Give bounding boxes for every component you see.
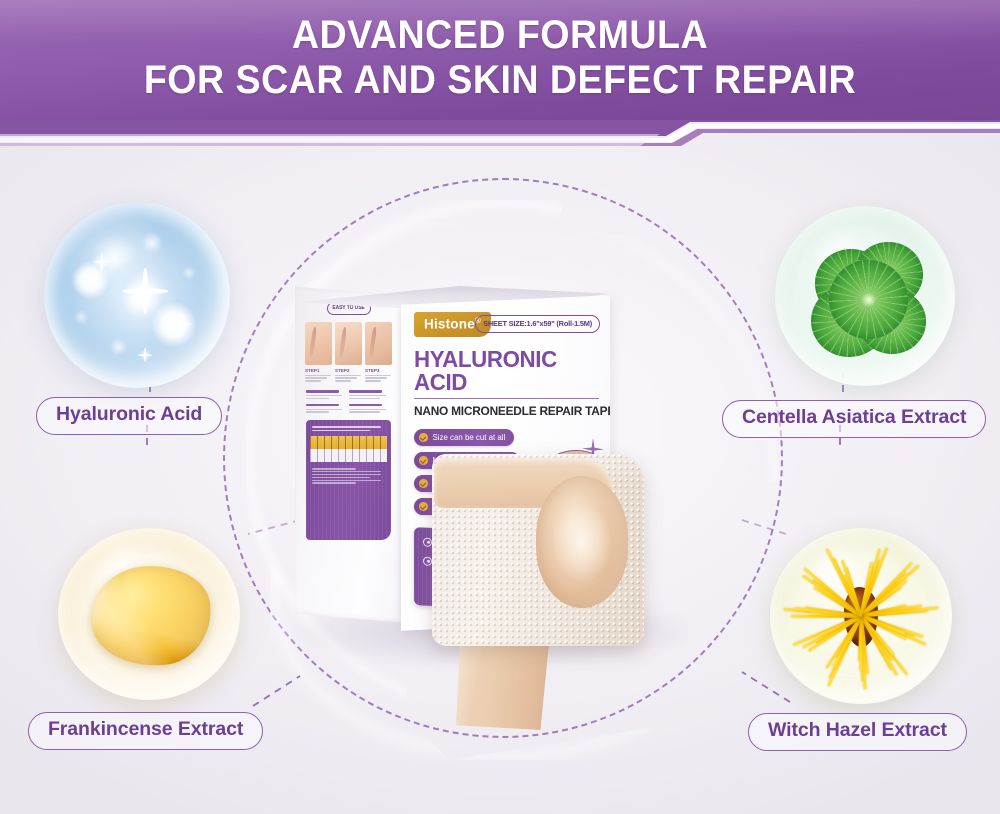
product-group: EASY TO USE STEP1 STEP2	[280, 262, 710, 692]
witch-hazel-flower	[799, 551, 923, 681]
brand-name: Histone	[424, 317, 475, 332]
tape-roll-body	[432, 454, 644, 646]
connector-witch-hazel	[742, 672, 790, 702]
step-photo	[305, 322, 332, 365]
product-title: HYALURONIC ACID	[414, 348, 592, 394]
label-frankincense[interactable]: Frankincense Extract	[28, 712, 263, 750]
spec-block	[301, 383, 396, 414]
title-divider	[414, 398, 599, 399]
flower-petal	[859, 616, 863, 672]
step-photo	[335, 322, 362, 365]
feature-label: Size can be cut at all	[433, 433, 506, 442]
header-title-line2: FOR SCAR AND SKIN DEFECT REPAIR	[30, 58, 970, 103]
product-subtitle: NANO MICRONEEDLE REPAIR TAPE	[414, 404, 591, 418]
centella-leaf-main	[829, 260, 908, 339]
label-hyaluronic-acid[interactable]: Hyaluronic Acid	[36, 397, 222, 435]
step-text	[305, 375, 332, 382]
step-text	[335, 375, 362, 382]
check-icon	[419, 456, 428, 465]
feature-item: Size can be cut at all	[414, 429, 514, 447]
ingredient-visual-centella	[775, 206, 955, 386]
check-icon	[419, 433, 428, 442]
header-title: ADVANCED FORMULA FOR SCAR AND SKIN DEFEC…	[30, 0, 970, 103]
tape-roll	[432, 454, 644, 646]
check-icon	[419, 502, 428, 511]
step-label: STEP1	[305, 368, 332, 373]
header-title-line1: ADVANCED FORMULA	[30, 13, 970, 58]
ingredient-visual-witch-hazel	[770, 528, 952, 704]
measurement-panel	[306, 420, 391, 540]
ingredient-visual-frankincense	[58, 528, 240, 700]
target-icon	[423, 556, 432, 565]
step-item: STEP2	[335, 322, 362, 384]
label-witch-hazel[interactable]: Witch Hazel Extract	[748, 713, 967, 751]
header-banner: ADVANCED FORMULA FOR SCAR AND SKIN DEFEC…	[0, 0, 1000, 120]
step-item: STEP1	[305, 322, 332, 384]
target-icon	[423, 537, 432, 546]
check-icon	[419, 479, 428, 488]
box-side-panel: EASY TO USE STEP1 STEP2	[295, 287, 402, 623]
sheet-size-badge: SHEET SIZE:1.6"x59" (Roll-1.5M)	[475, 315, 600, 333]
step-label: STEP2	[335, 368, 362, 373]
poster-canvas: ADVANCED FORMULA FOR SCAR AND SKIN DEFEC…	[0, 0, 1000, 814]
step-text	[365, 375, 392, 382]
step-photo	[365, 322, 392, 365]
ruler-scale-light	[310, 449, 387, 462]
step-item: STEP3	[365, 322, 392, 384]
ruler-scale-gold	[310, 436, 387, 449]
label-centella-asiatica[interactable]: Centella Asiatica Extract	[722, 400, 986, 438]
ingredient-visual-hyaluronic-acid	[44, 202, 230, 388]
tape-roll-core	[536, 476, 628, 608]
frankincense-resin	[86, 560, 216, 672]
fine-print	[306, 462, 391, 483]
step-label: STEP3	[365, 368, 392, 373]
usage-steps: STEP1 STEP2	[301, 322, 396, 384]
